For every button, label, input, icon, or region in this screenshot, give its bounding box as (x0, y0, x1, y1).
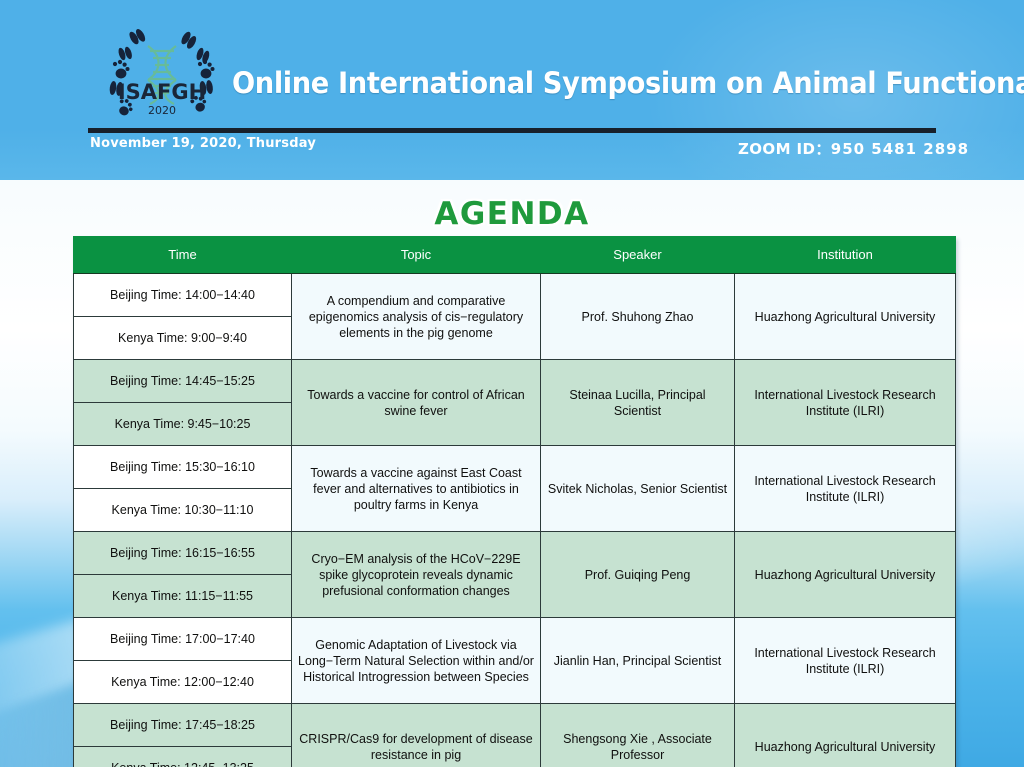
slide-root: ISAFGH 2020 Online International Symposi… (0, 0, 1024, 767)
cell-speaker: Prof. Guiqing Peng (541, 532, 735, 618)
table-row: Beijing Time: 15:30−16:10Towards a vacci… (74, 446, 956, 489)
cell-time-beijing: Beijing Time: 15:30−16:10 (74, 446, 292, 489)
svg-text:ISAFGH: ISAFGH (118, 80, 206, 104)
column-header-institution: Institution (735, 237, 956, 274)
zoom-id-value: 950 5481 2898 (831, 140, 969, 158)
cell-time-kenya: Kenya Time: 11:15−11:55 (74, 575, 292, 618)
cell-time-kenya: Kenya Time: 9:45−10:25 (74, 403, 292, 446)
cell-time-kenya: Kenya Time: 12:45−13:25 (74, 747, 292, 767)
zoom-id-label: ZOOM ID： (738, 140, 831, 158)
header-divider-rule (88, 128, 936, 133)
page-title: AGENDA (0, 196, 1024, 232)
table-row: Beijing Time: 17:45−18:25CRISPR/Cas9 for… (74, 704, 956, 747)
cell-speaker: Shengsong Xie , Associate Professor (541, 704, 735, 767)
cell-time-beijing: Beijing Time: 14:45−15:25 (74, 360, 292, 403)
cell-institution: International Livestock Research Institu… (735, 360, 956, 446)
cell-speaker: Svitek Nicholas, Senior Scientist (541, 446, 735, 532)
table-row: Beijing Time: 14:00−14:40A compendium an… (74, 274, 956, 317)
cell-topic: Genomic Adaptation of Livestock via Long… (292, 618, 541, 704)
cell-institution: International Livestock Research Institu… (735, 446, 956, 532)
event-date: November 19, 2020, Thursday (90, 136, 316, 151)
cell-time-beijing: Beijing Time: 14:00−14:40 (74, 274, 292, 317)
svg-text:2020: 2020 (148, 104, 176, 117)
cell-topic: Towards a vaccine against East Coast fev… (292, 446, 541, 532)
isafgh-logo: ISAFGH 2020 (100, 24, 224, 132)
cell-institution: Huazhong Agricultural University (735, 704, 956, 767)
table-row: Beijing Time: 14:45−15:25Towards a vacci… (74, 360, 956, 403)
cell-time-kenya: Kenya Time: 12:00−12:40 (74, 661, 292, 704)
cell-topic: Cryo−EM analysis of the HCoV−229E spike … (292, 532, 541, 618)
cell-speaker: Steinaa Lucilla, Principal Scientist (541, 360, 735, 446)
symposium-title: Online International Symposium on Animal… (232, 64, 975, 102)
cell-topic: A compendium and comparative epigenomics… (292, 274, 541, 360)
cell-topic: Towards a vaccine for control of African… (292, 360, 541, 446)
agenda-table: Time Topic Speaker Institution Beijing T… (73, 236, 956, 767)
cell-speaker: Prof. Shuhong Zhao (541, 274, 735, 360)
cell-institution: Huazhong Agricultural University (735, 532, 956, 618)
column-header-topic: Topic (292, 237, 541, 274)
table-row: Beijing Time: 17:00−17:40Genomic Adaptat… (74, 618, 956, 661)
cell-speaker: Jianlin Han, Principal Scientist (541, 618, 735, 704)
column-header-time: Time (74, 237, 292, 274)
cell-time-beijing: Beijing Time: 17:00−17:40 (74, 618, 292, 661)
cell-institution: Huazhong Agricultural University (735, 274, 956, 360)
agenda-table-body: Beijing Time: 14:00−14:40A compendium an… (74, 274, 956, 767)
cell-institution: International Livestock Research Institu… (735, 618, 956, 704)
table-header-row: Time Topic Speaker Institution (74, 237, 956, 274)
cell-topic: CRISPR/Cas9 for development of disease r… (292, 704, 541, 767)
cell-time-beijing: Beijing Time: 17:45−18:25 (74, 704, 292, 747)
column-header-speaker: Speaker (541, 237, 735, 274)
agenda-table-head: Time Topic Speaker Institution (74, 237, 956, 274)
cell-time-kenya: Kenya Time: 9:00−9:40 (74, 317, 292, 360)
agenda-table-container: Time Topic Speaker Institution Beijing T… (73, 236, 955, 767)
table-row: Beijing Time: 16:15−16:55Cryo−EM analysi… (74, 532, 956, 575)
header-banner: ISAFGH 2020 Online International Symposi… (0, 0, 1024, 180)
cell-time-kenya: Kenya Time: 10:30−11:10 (74, 489, 292, 532)
zoom-id-line: ZOOM ID：950 5481 2898 (738, 138, 969, 159)
cell-time-beijing: Beijing Time: 16:15−16:55 (74, 532, 292, 575)
